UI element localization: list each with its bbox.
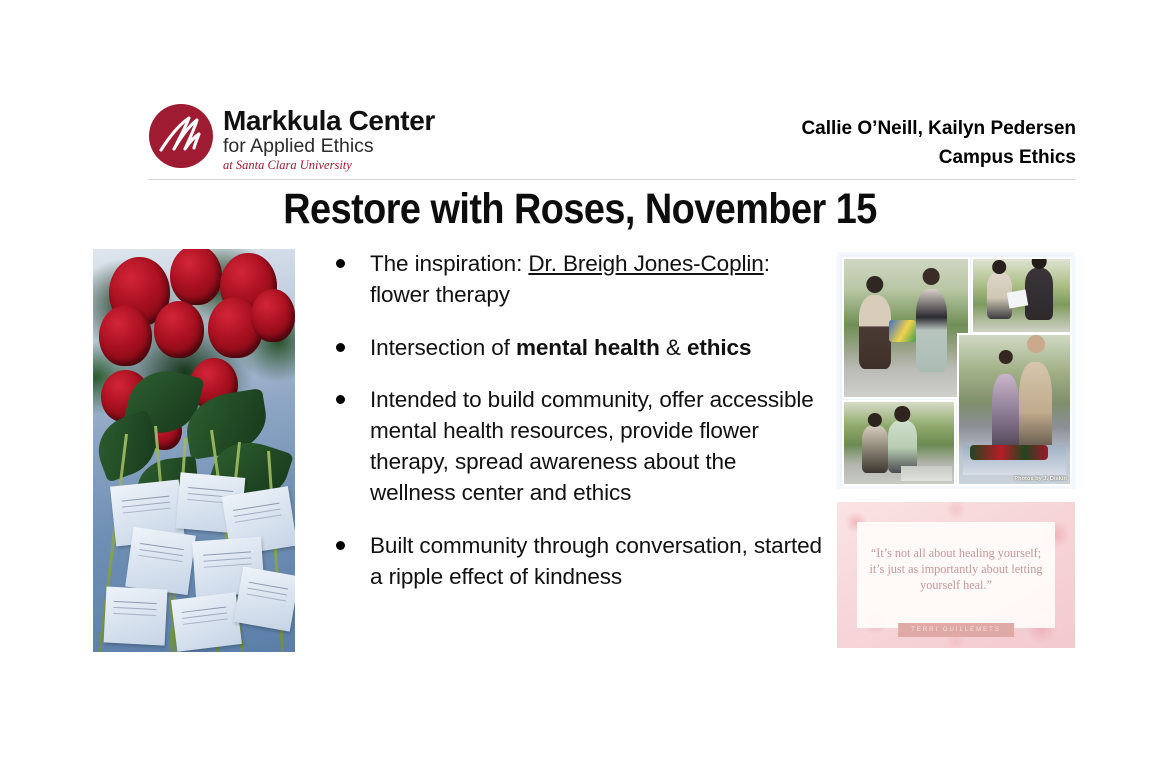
person-figure: [862, 425, 888, 473]
quote-attribution: TERRI GUILLEMETS: [898, 623, 1014, 637]
collage-photo-credit: Photos by J. Diskin: [1014, 476, 1067, 482]
link-dr-breigh-jones-coplin[interactable]: Dr. Breigh Jones-Coplin: [528, 251, 763, 276]
byline: Callie O’Neill, Kailyn Pedersen Campus E…: [801, 114, 1076, 173]
byline-team: Campus Ethics: [801, 143, 1076, 172]
person-head: [868, 413, 882, 427]
person-head: [923, 268, 940, 285]
markkula-m-monogram-icon: [148, 103, 214, 169]
person-figure: [916, 289, 947, 372]
markkula-logo: Markkula Center for Applied Ethics at Sa…: [148, 103, 435, 173]
note-card: [234, 567, 295, 632]
collage-photo-2: [971, 257, 1072, 334]
person-figure: [859, 295, 891, 370]
byline-authors: Callie O’Neill, Kailyn Pedersen: [801, 114, 1076, 143]
rose-bloom: [251, 289, 295, 341]
person-head: [1032, 257, 1047, 269]
collage-photo-1: [842, 257, 970, 399]
collage-photo-3: [957, 333, 1072, 486]
quote-card-panel: “It’s not all about healing yourself; it…: [857, 522, 1055, 628]
bullet-text-outcome: Built community through conversation, st…: [370, 531, 826, 593]
quote-text: “It’s not all about healing yourself; it…: [865, 545, 1047, 593]
photo-collage-tabling-event: Photos by J. Diskin: [837, 252, 1075, 489]
list-item: Intended to build community, offer acces…: [336, 385, 826, 508]
page-title: Restore with Roses, November 15: [70, 185, 1091, 234]
display-table: [901, 466, 952, 481]
list-item: Built community through conversation, st…: [336, 531, 826, 593]
person-head: [992, 260, 1006, 274]
bullet-dot-icon: [336, 343, 345, 352]
photo-red-roses-with-notes: [93, 249, 295, 652]
note-card: [104, 586, 167, 646]
bullet-text-inspiration: The inspiration: Dr. Breigh Jones-Coplin…: [370, 249, 826, 311]
list-item: The inspiration: Dr. Breigh Jones-Coplin…: [336, 249, 826, 311]
rose-bloom: [170, 249, 223, 305]
note-card: [171, 592, 242, 652]
tote-bag: [889, 320, 916, 342]
bullet-list: The inspiration: Dr. Breigh Jones-Coplin…: [336, 249, 826, 592]
collage-photo-4: [842, 400, 956, 486]
list-item: Intersection of mental health & ethics: [336, 333, 826, 364]
bullet-text-intent: Intended to build community, offer acces…: [370, 385, 826, 508]
person-figure: [888, 420, 917, 472]
logo-line-markkula-center: Markkula Center: [223, 107, 435, 136]
logo-line-for-applied-ethics: for Applied Ethics: [223, 136, 435, 158]
note-card: [125, 527, 195, 596]
roses-on-table: [970, 445, 1048, 460]
rose-bloom: [99, 305, 152, 365]
person-head: [1027, 335, 1045, 353]
flyer: [1007, 290, 1029, 309]
slide-header: Markkula Center for Applied Ethics at Sa…: [148, 103, 1076, 179]
bullet-dot-icon: [336, 541, 345, 550]
person-head: [895, 406, 910, 421]
person-figure: [1025, 268, 1052, 321]
bullet-dot-icon: [336, 259, 345, 268]
logo-line-at-santa-clara-university: at Santa Clara University: [223, 158, 435, 173]
header-divider: [148, 179, 1076, 180]
bullet-text-intersection: Intersection of mental health & ethics: [370, 333, 751, 364]
quote-card-healing: “It’s not all about healing yourself; it…: [837, 502, 1075, 648]
bullet-dot-icon: [336, 395, 345, 404]
rose-bloom: [154, 301, 205, 357]
